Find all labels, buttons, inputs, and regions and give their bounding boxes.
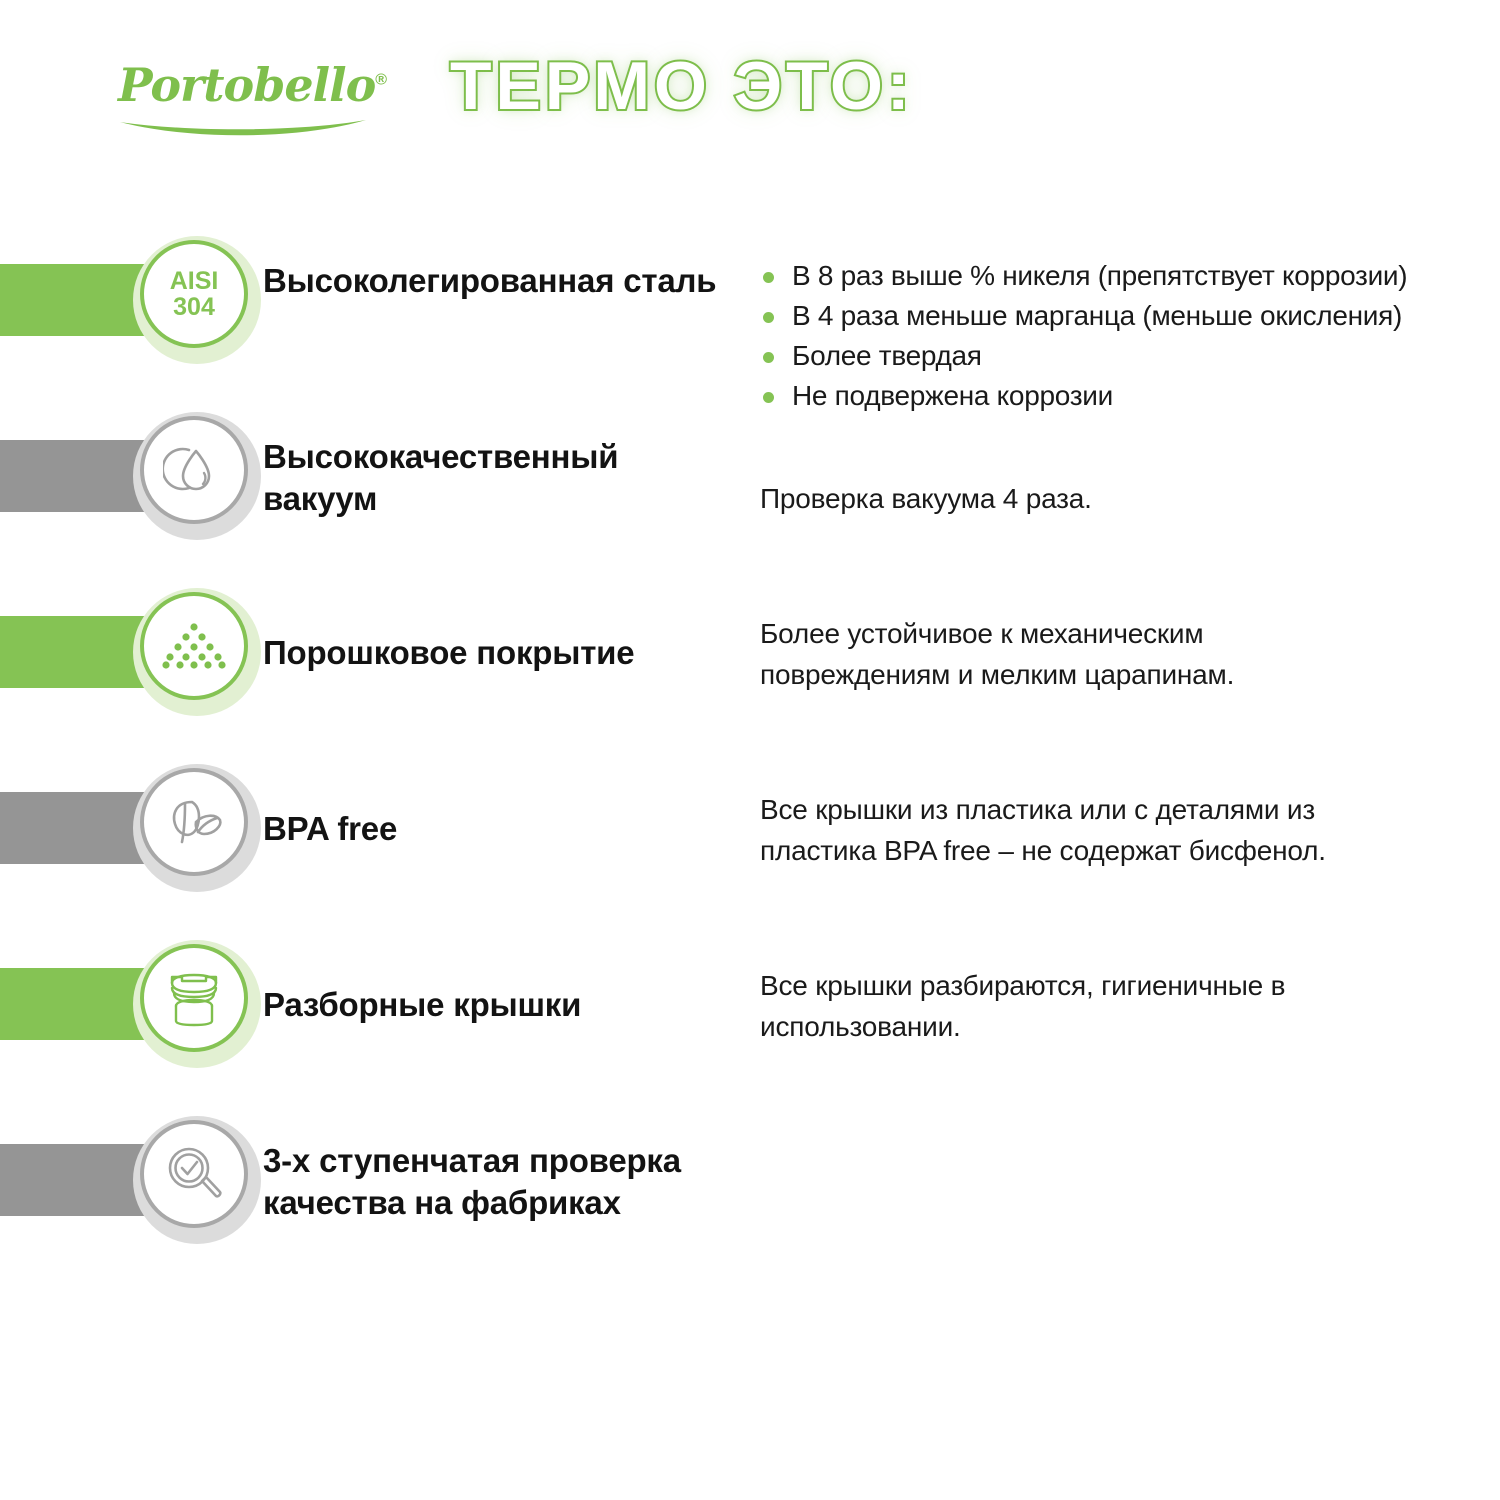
feature-row-powder: Порошковое покрытие Более устойчивое к м… [0, 588, 1500, 758]
leaves-icon [140, 768, 248, 876]
feature-row-steel: AISI 304 Высоколегированная сталь В 8 ра… [0, 236, 1500, 406]
feature-row-bpa: BPA free Все крышки из пластика или с де… [0, 764, 1500, 934]
feature-badge [133, 412, 261, 540]
powder-dots-icon [140, 592, 248, 700]
feature-description: Более устойчивое к механическим поврежде… [760, 613, 1380, 695]
bullet-dot-icon [763, 392, 774, 403]
bullet-dot-icon [763, 312, 774, 323]
feature-description: Проверка вакуума 4 раза. [760, 478, 1480, 519]
feature-badge [133, 588, 261, 716]
list-item: Не подвержена коррозии [760, 376, 1500, 416]
water-drop-icon [140, 416, 248, 524]
bullet-text: В 4 раза меньше марганца (меньше окислен… [792, 300, 1402, 331]
feature-row-vacuum: Высококачественный вакуум Проверка вакуу… [0, 412, 1500, 582]
feature-row-lids: Разборные крышки Все крышки разбираются,… [0, 940, 1500, 1110]
magnifier-check-icon [140, 1120, 248, 1228]
aisi-label: AISI [170, 268, 219, 294]
feature-badge: AISI 304 [133, 236, 261, 364]
list-item: В 4 раза меньше марганца (меньше окислен… [760, 296, 1500, 336]
feature-title: Порошковое покрытие [263, 632, 783, 674]
feature-description: Все крышки разбираются, гигиеничные в ис… [760, 965, 1380, 1047]
feature-badge [133, 764, 261, 892]
detachable-lid-icon [140, 944, 248, 1052]
feature-badge [133, 1116, 261, 1244]
feature-title: BPA free [263, 808, 733, 850]
bullet-dot-icon [763, 272, 774, 283]
feature-list: AISI 304 Высоколегированная сталь В 8 ра… [0, 0, 1500, 1500]
aisi-304-badge-icon: AISI 304 [140, 240, 248, 348]
feature-bullets: В 8 раз выше % никеля (препятствует корр… [760, 256, 1500, 416]
list-item: Более твердая [760, 336, 1500, 376]
feature-title: Высококачественный вакуум [263, 436, 733, 520]
bullet-text: Более твердая [792, 340, 982, 371]
feature-title: 3-х ступенчатая проверка качества на фаб… [263, 1140, 783, 1224]
feature-badge [133, 940, 261, 1068]
bullet-dot-icon [763, 352, 774, 363]
feature-row-quality: 3-х ступенчатая проверка качества на фаб… [0, 1116, 1500, 1286]
bullet-text: В 8 раз выше % никеля (препятствует корр… [792, 260, 1407, 291]
list-item: В 8 раз выше % никеля (препятствует корр… [760, 256, 1500, 296]
bullet-text: Не подвержена коррозии [792, 380, 1113, 411]
feature-description: Все крышки из пластика или с деталями из… [760, 789, 1420, 871]
feature-title: Высоколегированная сталь [263, 260, 733, 302]
feature-title: Разборные крышки [263, 984, 733, 1026]
aisi-grade: 304 [170, 294, 219, 320]
